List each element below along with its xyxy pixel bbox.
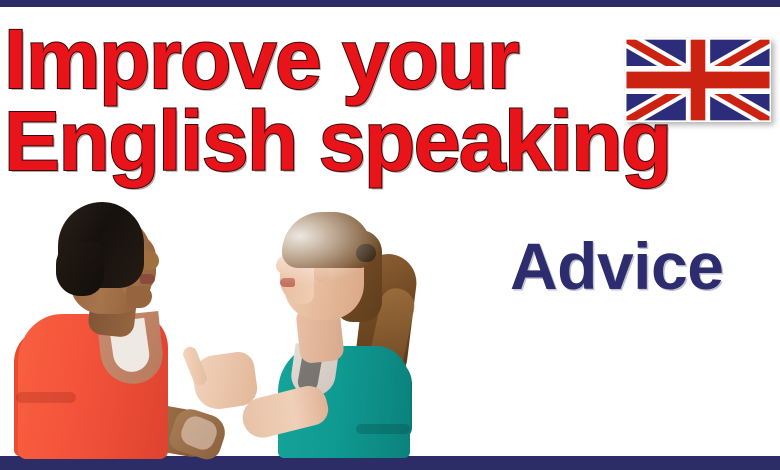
advice-label: Advice bbox=[510, 228, 723, 304]
left-woman-sleeve-hem bbox=[16, 392, 76, 403]
union-jack-icon bbox=[625, 38, 771, 122]
left-woman-nose bbox=[142, 250, 159, 270]
right-woman-sleeve-hem bbox=[356, 424, 410, 434]
right-woman-figure bbox=[236, 196, 466, 456]
right-woman-mouth bbox=[280, 278, 295, 287]
right-woman-hair-tie bbox=[356, 244, 376, 262]
left-woman-figure bbox=[14, 196, 244, 456]
two-women-photo bbox=[0, 196, 560, 456]
left-woman-mouth bbox=[140, 274, 155, 284]
left-woman-chin bbox=[126, 286, 152, 308]
top-navy-bar bbox=[0, 0, 780, 7]
left-woman-hair-back bbox=[56, 242, 104, 296]
thumbnail-canvas: Improve your English speaking Advice bbox=[0, 0, 780, 470]
